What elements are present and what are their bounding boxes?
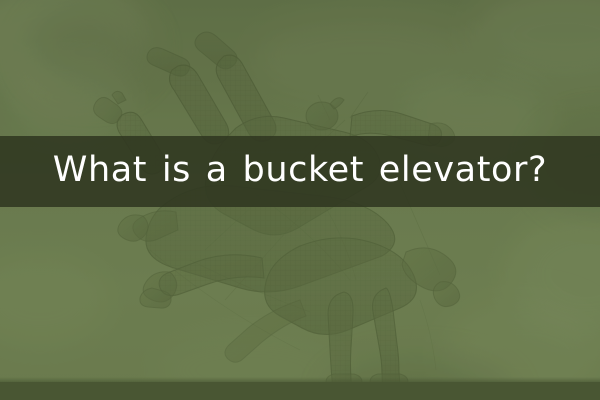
image-canvas: What is a bucket elevator? bbox=[0, 0, 600, 400]
caption-banner: What is a bucket elevator? bbox=[0, 136, 600, 207]
caption-text: What is a bucket elevator? bbox=[53, 153, 547, 190]
